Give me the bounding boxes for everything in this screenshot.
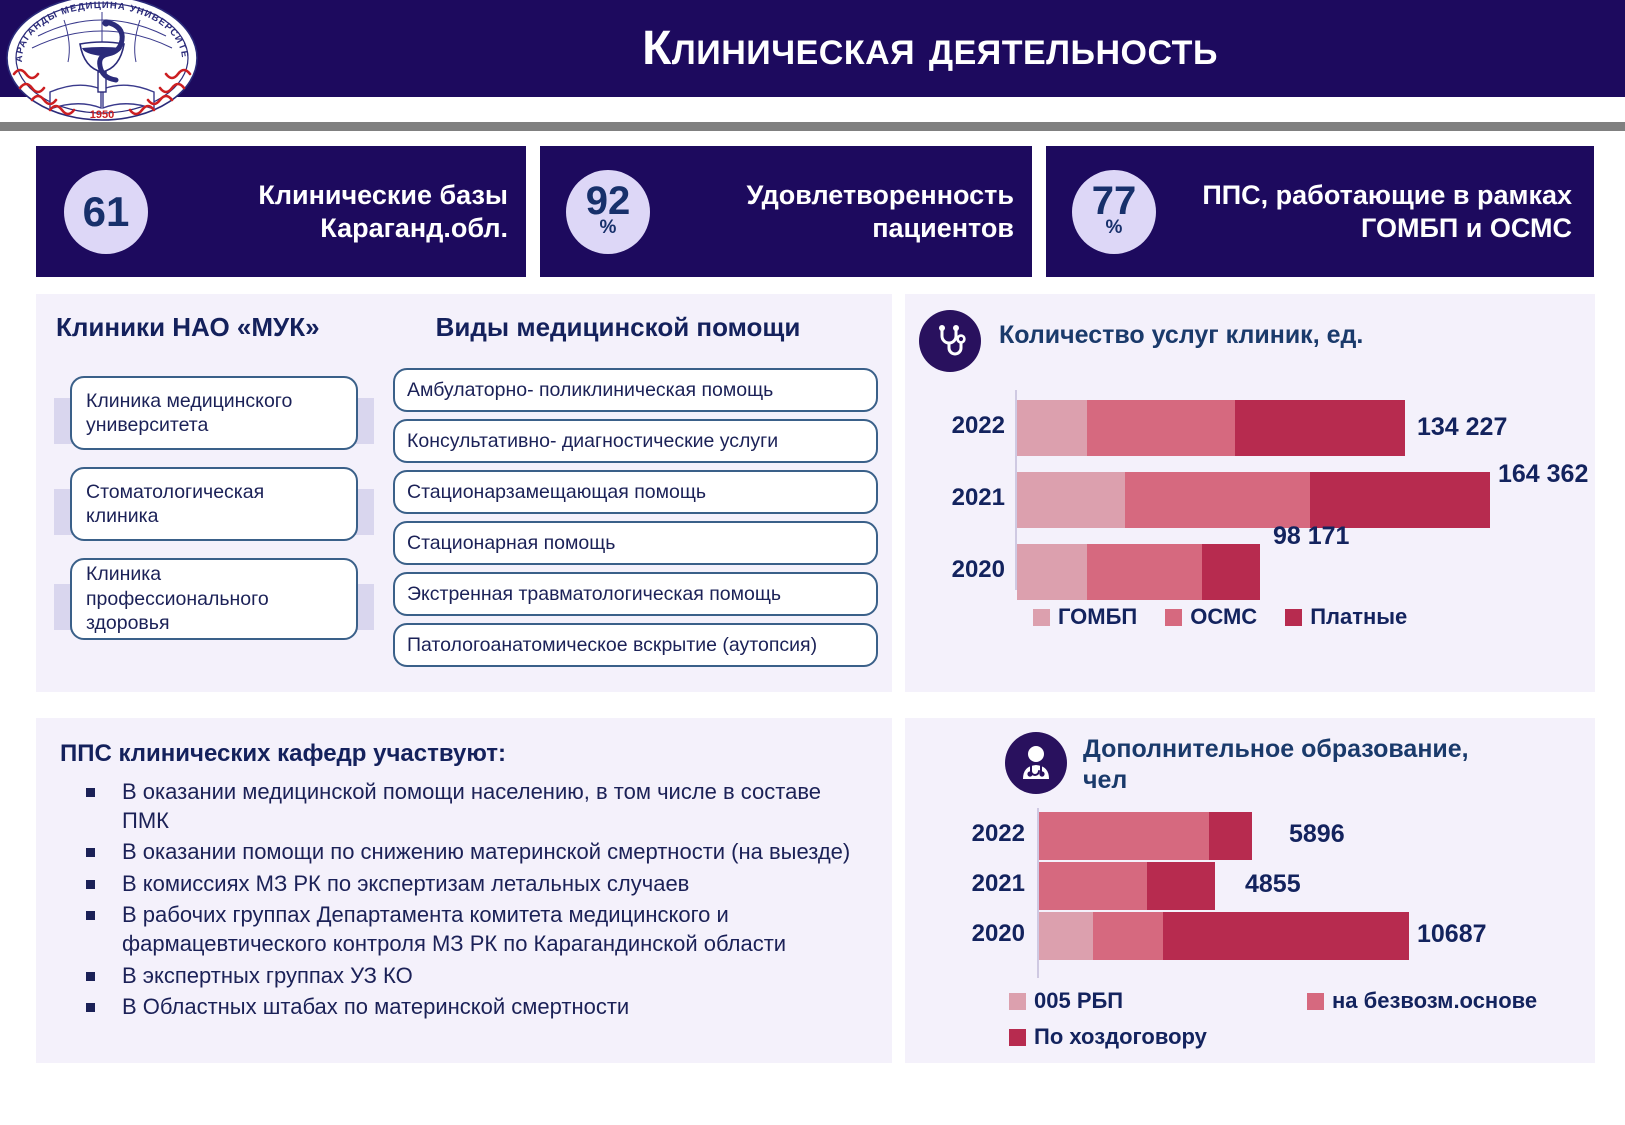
legend-item-platnye[interactable]: Платные <box>1285 604 1407 630</box>
care-type-item[interactable]: Стационарная помощь <box>393 521 878 565</box>
legend-label: 005 РБП <box>1034 988 1123 1014</box>
bar-segment-hozdogovor[interactable] <box>1163 912 1409 960</box>
bar-total-label: 134 227 <box>1417 413 1507 442</box>
bar-segment-osms[interactable] <box>1125 472 1310 528</box>
kpi-label: Клинические базы Караганд.обл. <box>148 179 526 245</box>
care-type-item[interactable]: Амбулаторно- поликлиническая помощь <box>393 368 878 412</box>
legend-item-osms[interactable]: ОСМС <box>1165 604 1257 630</box>
clinic-services-chart-panel: Количество услуг клиник, ед. 2022 134 22… <box>905 294 1595 692</box>
bar-segment-platnye[interactable] <box>1310 472 1490 528</box>
list-item: В экспертных группах УЗ КО <box>60 962 860 991</box>
legend-swatch-icon <box>1165 609 1182 626</box>
care-type-label: Стационарзамещающая помощь <box>407 481 706 504</box>
bar-segment-gombp[interactable] <box>1017 400 1087 456</box>
kpi-value-badge: 61 <box>64 170 148 254</box>
legend-item-hozdogovor[interactable]: По хоздоговору <box>1009 1024 1279 1050</box>
clinic-label: Клиника медицинского университета <box>86 389 342 438</box>
kpi-value: 61 <box>83 192 130 232</box>
legend-label: По хоздоговору <box>1034 1024 1207 1050</box>
bullets-panel-title: ППС клинических кафедр участвуют: <box>60 740 506 768</box>
list-item: В оказании помощи по снижению материнско… <box>60 838 860 867</box>
care-type-label: Консультативно- диагностические услуги <box>407 430 778 453</box>
care-type-item[interactable]: Экстренная травматологическая помощь <box>393 572 878 616</box>
bar-total-label: 164 362 <box>1498 460 1588 489</box>
clinic-box: Клиника медицинского университета <box>70 376 358 450</box>
list-item-label: В комиссиях МЗ РК по экспертизам летальн… <box>122 871 689 896</box>
bullet-square-icon <box>86 880 95 889</box>
page-title: Клиническая деятельность <box>260 0 1600 97</box>
list-item-label: В оказании помощи по снижению материнско… <box>122 839 850 864</box>
clinic-label: Клиника профессионального здоровья <box>86 562 342 635</box>
karaganda-medical-university-logo: КАРАГАНДЫ МЕДИЦИНА УНИВЕРСИТЕТІ 1950 <box>2 0 202 124</box>
bar-stack[interactable] <box>1017 544 1260 600</box>
header-divider <box>0 122 1625 131</box>
clinic-item[interactable]: Клиника медицинского университета <box>54 376 374 450</box>
chart-header: Количество услуг клиник, ед. <box>919 310 1579 372</box>
bar-category-label: 2022 <box>905 412 1005 440</box>
clinic-box: Клиника профессионального здоровья <box>70 558 358 640</box>
bullets-list: В оказании медицинской помощи населению,… <box>60 778 860 1025</box>
bar-category-label: 2021 <box>905 484 1005 512</box>
bar-stack[interactable] <box>1039 812 1252 860</box>
bullet-square-icon <box>86 1003 95 1012</box>
kpi-card-staff-gombp-osms: 77 % ППС, работающие в рамках ГОМБП и ОС… <box>1046 146 1594 277</box>
page-header: Клиническая деятельность <box>0 0 1625 97</box>
kpi-card-patient-satisfaction: 92 % Удовлетворенность пациентов <box>540 146 1032 277</box>
legend-swatch-icon <box>1009 1029 1026 1046</box>
legend-swatch-icon <box>1307 993 1324 1010</box>
kpi-value-badge: 92 % <box>566 170 650 254</box>
bar-segment-005-rbp[interactable] <box>1039 912 1093 960</box>
legend-item-bezvozm[interactable]: на безвозм.основе <box>1307 988 1537 1014</box>
kpi-value: 92 <box>586 182 631 220</box>
list-item-label: В оказании медицинской помощи населению,… <box>122 779 821 833</box>
kpi-card-clinical-bases: 61 Клинические базы Караганд.обл. <box>36 146 526 277</box>
list-item: В оказании медицинской помощи населению,… <box>60 778 860 835</box>
bar-total-label: 10687 <box>1417 920 1487 949</box>
care-type-item[interactable]: Патологоанатомическое вскрытие (аутопсия… <box>393 623 878 667</box>
care-type-item[interactable]: Стационарзамещающая помощь <box>393 470 878 514</box>
list-item-label: В рабочих группах Департамента комитета … <box>122 902 786 956</box>
legend-label: ГОМБП <box>1058 604 1137 630</box>
legend-label: ОСМС <box>1190 604 1257 630</box>
clinic-label: Стоматологическая клиника <box>86 480 342 529</box>
bar-segment-hozdogovor[interactable] <box>1209 812 1252 860</box>
bar-stack[interactable] <box>1017 400 1405 456</box>
bar-segment-osms[interactable] <box>1087 544 1202 600</box>
bar-segment-bezvozm[interactable] <box>1093 912 1163 960</box>
chart-plot-area: 2022 5896 2021 4855 2020 10687 005 РБП <box>905 798 1595 1063</box>
list-item: В Областных штабах по материнской смертн… <box>60 993 860 1022</box>
bar-stack[interactable] <box>1039 862 1215 910</box>
list-item: В комиссиях МЗ РК по экспертизам летальн… <box>60 870 860 899</box>
additional-education-chart-panel: Дополнительное образование, чел 2022 589… <box>905 718 1595 1063</box>
bar-segment-bezvozm[interactable] <box>1039 862 1147 910</box>
kpi-label: Удовлетворенность пациентов <box>650 179 1032 245</box>
clinics-panel-title: Клиники НАО «МУК» <box>56 312 320 343</box>
care-type-label: Амбулаторно- поликлиническая помощь <box>407 379 773 402</box>
legend-label: Платные <box>1310 604 1407 630</box>
bar-category-label: 2022 <box>925 820 1025 848</box>
chart-title: Дополнительное образование, чел <box>1083 734 1503 797</box>
bullet-square-icon <box>86 848 95 857</box>
bar-segment-hozdogovor[interactable] <box>1147 862 1215 910</box>
chart-title: Количество услуг клиник, ед. <box>999 320 1363 351</box>
bar-stack[interactable] <box>1017 472 1490 528</box>
bar-segment-bezvozm[interactable] <box>1039 812 1209 860</box>
care-types-title: Виды медицинской помощи <box>393 312 843 343</box>
clinic-item[interactable]: Клиника профессионального здоровья <box>54 558 374 644</box>
list-item-label: В экспертных группах УЗ КО <box>122 963 413 988</box>
bullet-square-icon <box>86 788 95 797</box>
logo-year: 1950 <box>90 109 114 121</box>
chart-legend: ГОМБП ОСМС Платные <box>1033 604 1435 630</box>
faculty-participation-panel: ППС клинических кафедр участвуют: В оказ… <box>36 718 892 1063</box>
care-type-label: Патологоанатомическое вскрытие (аутопсия… <box>407 634 817 657</box>
clinics-panel: Клиники НАО «МУК» Виды медицинской помощ… <box>36 294 892 692</box>
legend-item-005-rbp[interactable]: 005 РБП <box>1009 988 1279 1014</box>
list-item-label: В Областных штабах по материнской смертн… <box>122 994 629 1019</box>
kpi-value-badge: 77 % <box>1072 170 1156 254</box>
bullet-square-icon <box>86 911 95 920</box>
bar-category-label: 2021 <box>925 870 1025 898</box>
legend-swatch-icon <box>1285 609 1302 626</box>
bar-stack[interactable] <box>1039 912 1409 960</box>
bar-segment-platnye[interactable] <box>1202 544 1260 600</box>
bullet-square-icon <box>86 972 95 981</box>
care-type-label: Экстренная травматологическая помощь <box>407 583 781 606</box>
legend-swatch-icon <box>1009 993 1026 1010</box>
bar-segment-gombp[interactable] <box>1017 544 1087 600</box>
bar-segment-osms[interactable] <box>1087 400 1235 456</box>
bar-segment-gombp[interactable] <box>1017 472 1125 528</box>
clinic-item[interactable]: Стоматологическая клиника <box>54 467 374 541</box>
bar-total-label: 98 171 <box>1273 522 1349 551</box>
legend-item-gombp[interactable]: ГОМБП <box>1033 604 1137 630</box>
legend-label: на безвозм.основе <box>1332 988 1537 1014</box>
bar-segment-platnye[interactable] <box>1235 400 1405 456</box>
bar-total-label: 4855 <box>1245 870 1301 899</box>
bar-total-label: 5896 <box>1289 820 1345 849</box>
kpi-unit: % <box>600 218 617 237</box>
care-type-label: Стационарная помощь <box>407 532 615 555</box>
bar-category-label: 2020 <box>925 920 1025 948</box>
chart-legend: 005 РБП на безвозм.основе По хоздоговору <box>1009 988 1569 1050</box>
stethoscope-icon <box>919 310 981 372</box>
doctor-icon <box>1005 732 1067 794</box>
care-type-item[interactable]: Консультативно- диагностические услуги <box>393 419 878 463</box>
clinic-box: Стоматологическая клиника <box>70 467 358 541</box>
chart-plot-area: 2022 134 227 2021 164 362 2020 98 171 ГО <box>905 390 1595 640</box>
kpi-unit: % <box>1106 218 1123 237</box>
chart-header: Дополнительное образование, чел <box>1005 732 1585 797</box>
kpi-label: ППС, работающие в рамках ГОМБП и ОСМС <box>1156 179 1594 245</box>
bar-category-label: 2020 <box>905 556 1005 584</box>
kpi-value: 77 <box>1092 182 1137 220</box>
legend-swatch-icon <box>1033 609 1050 626</box>
list-item: В рабочих группах Департамента комитета … <box>60 901 860 958</box>
